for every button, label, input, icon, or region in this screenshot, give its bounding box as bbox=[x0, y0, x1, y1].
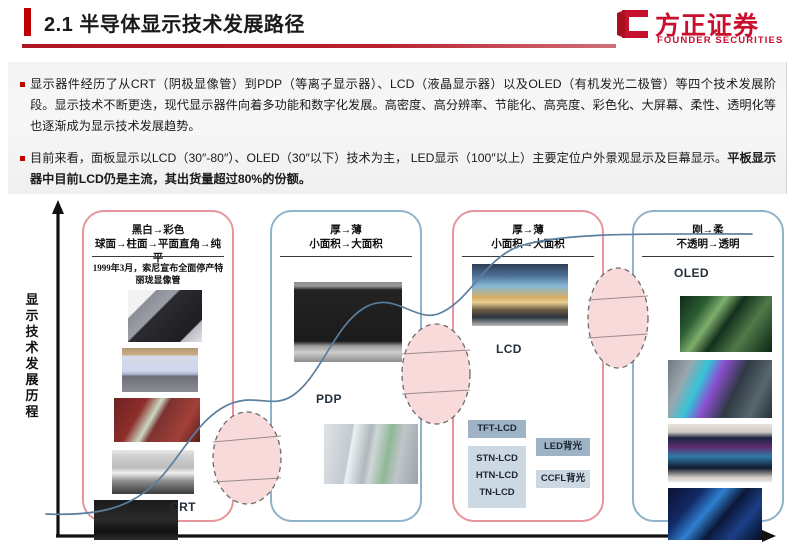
technology-roadmap-diagram: 显示技术发展历程 黑白→彩色 球面→柱面→平面直角→纯平 1999年3月，索尼宣… bbox=[8, 196, 787, 552]
founder-logo-mark-icon bbox=[617, 9, 651, 39]
technology-s-curve bbox=[46, 234, 752, 514]
page-title: 2.1 半导体显示技术发展路径 bbox=[44, 8, 305, 37]
bullet-marker-icon bbox=[20, 156, 25, 161]
logo-text-en: FOUNDER SECURITIES bbox=[657, 35, 783, 46]
bullet-marker-icon bbox=[20, 82, 25, 87]
slide-header: 2.1 半导体显示技术发展路径 方正证券 FOUNDER SECURITIES bbox=[0, 0, 795, 52]
s-curve-and-transitions bbox=[8, 196, 787, 552]
company-logo: 方正证券 FOUNDER SECURITIES bbox=[617, 6, 787, 48]
bullet-paragraph-2: 目前来看，面板显示以LCD（30″-80″）、OLED（30″以下）技术为主， … bbox=[20, 148, 776, 190]
slide-root: 2.1 半导体显示技术发展路径 方正证券 FOUNDER SECURITIES … bbox=[0, 0, 795, 558]
title-accent-bar bbox=[24, 8, 31, 36]
transition-circle-crt-pdp bbox=[213, 412, 281, 504]
transition-circle-pdp-lcd bbox=[402, 324, 470, 424]
transition-circle-lcd-oled bbox=[588, 268, 648, 368]
header-divider-rule bbox=[22, 44, 616, 48]
paragraph-2-text: 目前来看，面板显示以LCD（30″-80″）、OLED（30″以下）技术为主， … bbox=[30, 148, 776, 190]
bullet-paragraph-1: 显示器件经历了从CRT（阴极显像管）到PDP（等离子显示器）、LCD（液晶显示器… bbox=[20, 74, 776, 137]
paragraph-2-normal: 目前来看，面板显示以LCD（30″-80″）、OLED（30″以下）技术为主， … bbox=[30, 151, 727, 165]
body-text-block: 显示器件经历了从CRT（阴极显像管）到PDP（等离子显示器）、LCD（液晶显示器… bbox=[8, 62, 787, 194]
paragraph-1-text: 显示器件经历了从CRT（阴极显像管）到PDP（等离子显示器）、LCD（液晶显示器… bbox=[30, 74, 776, 137]
